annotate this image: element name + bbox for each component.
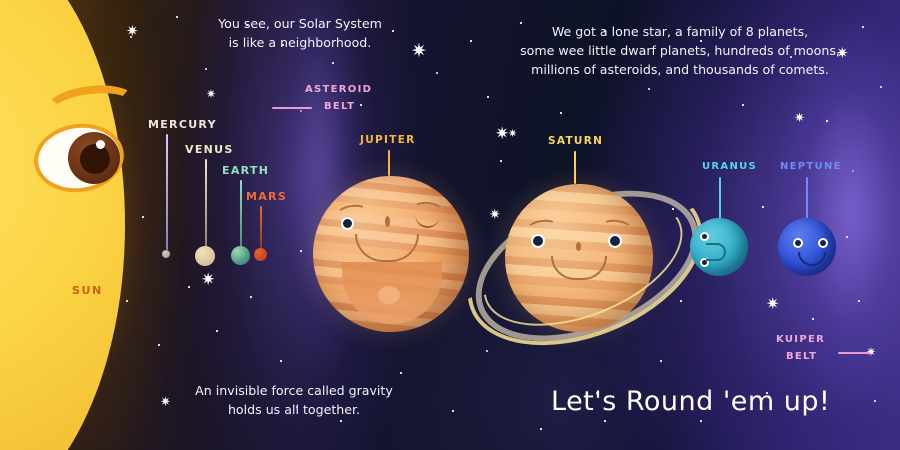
saturn-eye-right-pupil <box>610 236 620 246</box>
intro-line-2: is like a neighborhood. <box>185 33 415 52</box>
sun-eye-highlight <box>96 140 105 149</box>
jupiter-eye-left-pupil <box>343 219 352 228</box>
planet-mercury <box>162 250 170 258</box>
label-mars: MARS <box>246 190 287 203</box>
planet-earth <box>231 246 250 265</box>
headline-text: Let's Round 'em up! <box>551 386 830 417</box>
intro-text-block: You see, our Solar System is like a neig… <box>185 14 415 52</box>
sparkle-star-icon <box>201 272 215 289</box>
census-line-3: millions of asteroids, and thousands of … <box>500 60 860 79</box>
uranus-eye-top-pupil <box>702 234 707 239</box>
label-kuiper-belt-line1: KUIPER <box>776 334 825 345</box>
illustration-page: SUN MERCURY VENUS EARTH MARS ASTEROID BE… <box>0 0 900 450</box>
sun-eye-pupil <box>80 144 110 174</box>
label-kuiper-belt-line2: BELT <box>786 351 817 362</box>
sparkle-star-icon <box>160 396 171 409</box>
jupiter-hands <box>378 286 400 304</box>
label-sun: SUN <box>72 284 103 297</box>
leader-line-uranus <box>719 177 721 219</box>
sparkle-star-icon <box>794 112 805 125</box>
label-uranus: URANUS <box>702 161 757 172</box>
label-venus: VENUS <box>185 143 234 156</box>
saturn-nose <box>576 242 581 251</box>
sparkle-star-icon <box>766 296 779 312</box>
label-earth: EARTH <box>222 164 269 177</box>
leader-line-mars <box>260 206 262 250</box>
sparkle-star-icon <box>206 88 216 100</box>
label-jupiter: JUPITER <box>360 134 416 146</box>
gravity-line-1: An invisible force called gravity <box>180 381 408 400</box>
leader-line-jupiter <box>388 150 390 176</box>
saturn-eye-left-pupil <box>533 236 543 246</box>
planet-venus <box>195 246 215 266</box>
neptune-eye-left-pupil <box>795 240 801 246</box>
leader-line-kuiper-belt <box>838 352 870 354</box>
leader-line-mercury <box>166 134 168 250</box>
census-line-1: We got a lone star, a family of 8 planet… <box>500 22 860 41</box>
label-saturn: SATURN <box>548 135 603 147</box>
label-mercury: MERCURY <box>148 118 217 131</box>
leader-line-saturn <box>574 151 576 184</box>
sparkle-star-icon <box>508 128 517 139</box>
label-asteroid-belt-line2: BELT <box>324 101 355 112</box>
leader-line-neptune <box>806 177 808 219</box>
sparkle-star-icon <box>489 208 501 222</box>
label-neptune: NEPTUNE <box>780 161 842 172</box>
leader-line-venus <box>205 159 207 248</box>
census-text-block: We got a lone star, a family of 8 planet… <box>500 22 860 79</box>
label-asteroid-belt-line1: ASTEROID <box>305 84 372 95</box>
intro-line-1: You see, our Solar System <box>185 14 415 33</box>
gravity-text-block: An invisible force called gravity holds … <box>180 381 408 419</box>
neptune-body <box>778 218 836 276</box>
census-line-2: some wee little dwarf planets, hundreds … <box>500 41 860 60</box>
leader-line-asteroid-belt <box>272 107 312 109</box>
uranus-mouth <box>706 243 726 261</box>
leader-line-earth <box>240 180 242 248</box>
gravity-line-2: holds us all together. <box>180 400 408 419</box>
planet-mars <box>254 248 267 261</box>
neptune-eye-right-pupil <box>820 240 826 246</box>
sparkle-star-icon <box>126 24 139 39</box>
jupiter-nose <box>385 216 390 227</box>
